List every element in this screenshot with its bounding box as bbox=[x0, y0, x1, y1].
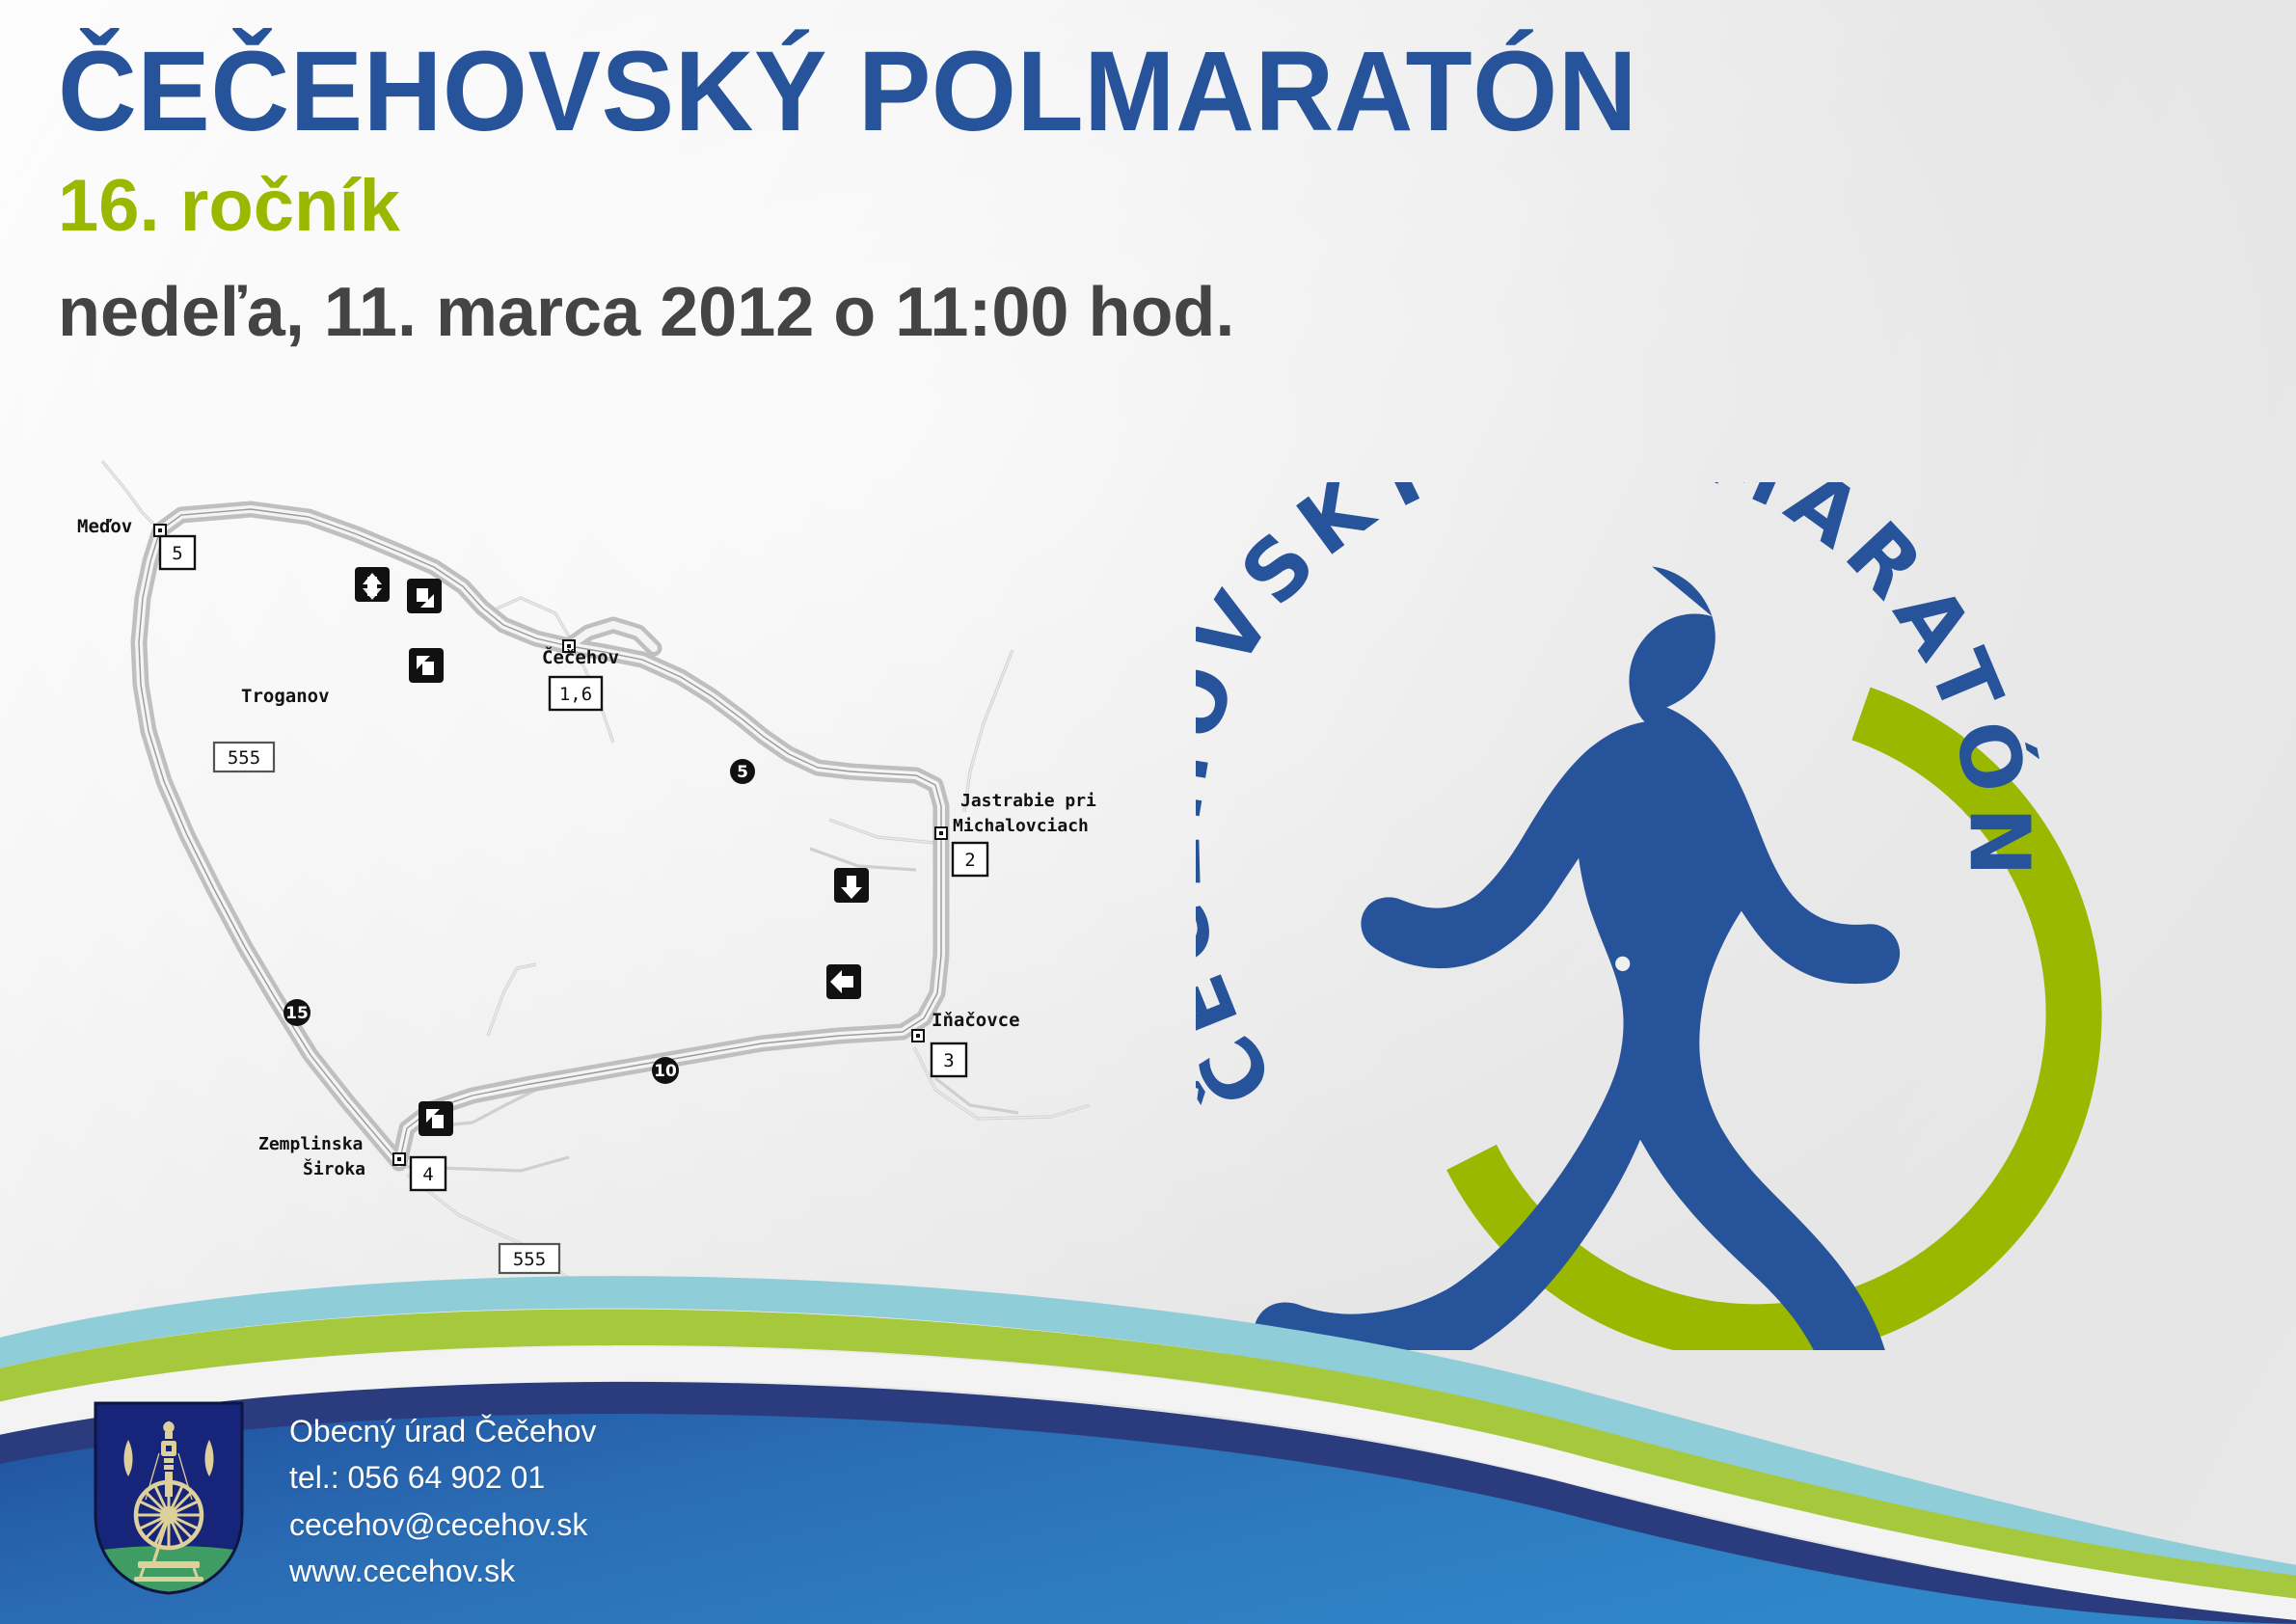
map-road-shields: 555 555 bbox=[214, 743, 559, 1273]
cecehov-coat-of-arms bbox=[92, 1399, 246, 1597]
contact-line-email[interactable]: cecehov@cecehov.sk bbox=[289, 1502, 596, 1549]
place-label: Široka bbox=[303, 1158, 365, 1179]
distance-marker-label: 5 bbox=[172, 543, 182, 564]
event-date-line: nedeľa, 11. marca 2012 o 11:00 hod. bbox=[58, 278, 1703, 347]
distance-marker: 3 bbox=[932, 1043, 966, 1076]
place-label: Jastrabie pri bbox=[960, 791, 1096, 811]
edition-subtitle: 16. ročník bbox=[58, 170, 1703, 243]
arrow-down-right-icon bbox=[407, 579, 442, 613]
km-marker-label: 5 bbox=[737, 763, 748, 782]
distance-marker-label: 4 bbox=[422, 1164, 433, 1185]
km-marker-label: 15 bbox=[285, 1004, 309, 1023]
place-label: Čečehov bbox=[542, 645, 619, 668]
route-map: .casing{fill:none;stroke:#bfbfbf;stroke-… bbox=[68, 453, 1109, 1321]
map-settlement-dots bbox=[154, 525, 947, 1165]
contact-line-office: Obecný úrad Čečehov bbox=[289, 1408, 596, 1455]
distance-marker: 2 bbox=[953, 843, 987, 876]
distance-marker-label: 2 bbox=[964, 850, 975, 871]
distance-marker: 5 bbox=[160, 536, 195, 569]
arrow-down-icon bbox=[834, 868, 869, 903]
contact-line-phone: tel.: 056 64 902 01 bbox=[289, 1454, 596, 1502]
place-label: Michalovciach bbox=[953, 816, 1089, 836]
headline-block: ČEČEHOVSKÝ POLMARATÓN 16. ročník nedeľa,… bbox=[58, 35, 1703, 347]
distance-marker-label: 3 bbox=[943, 1050, 954, 1071]
page-title: ČEČEHOVSKÝ POLMARATÓN bbox=[58, 35, 1637, 149]
place-label: Meďov bbox=[77, 516, 132, 537]
distance-marker: 1,6 bbox=[550, 677, 602, 710]
place-label: Troganov bbox=[241, 686, 330, 707]
arrow-left-icon bbox=[826, 964, 861, 999]
road-shield: 555 bbox=[214, 743, 274, 771]
km-marker-label: 10 bbox=[654, 1062, 677, 1081]
arrow-up-left-icon bbox=[419, 1101, 453, 1136]
distance-marker-label: 1,6 bbox=[559, 684, 592, 705]
arrow-up-left-icon bbox=[409, 648, 444, 683]
contact-line-website[interactable]: www.cecehov.sk bbox=[289, 1548, 596, 1595]
poster-root: ČEČEHOVSKÝ POLMARATÓN 16. ročník nedeľa,… bbox=[0, 0, 2296, 1624]
distance-marker: 4 bbox=[411, 1157, 446, 1190]
place-label: Iňačovce bbox=[932, 1010, 1020, 1031]
place-label: Zemplinska bbox=[258, 1134, 363, 1154]
contact-info: Obecný úrad Čečehov tel.: 056 64 902 01 … bbox=[289, 1408, 596, 1596]
road-shield-label: 555 bbox=[228, 747, 260, 769]
footer-block: Obecný úrad Čečehov tel.: 056 64 902 01 … bbox=[0, 1335, 2296, 1624]
map-km-markers: 5 10 15 bbox=[284, 759, 755, 1084]
start-finish-marker bbox=[355, 567, 390, 602]
